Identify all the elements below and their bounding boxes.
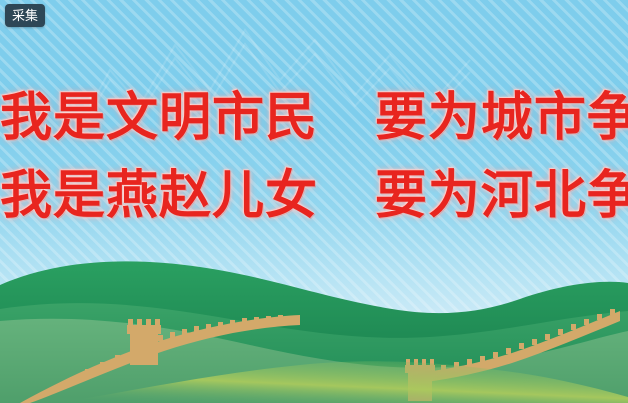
great-wall-tower-left <box>127 319 161 365</box>
slogan-line-1-left: 我是文明市民 <box>0 89 318 147</box>
landscape-illustration <box>0 213 628 403</box>
capture-button[interactable]: 采集 <box>5 4 45 27</box>
slogan-line-2-left: 我是燕赵儿女 <box>0 167 318 225</box>
poster-image: 我是文明市民 要为城市争光 我是燕赵儿女 要为河北争气 采集 <box>0 0 628 403</box>
slogan-line-1-right: 要为城市争光 <box>375 89 628 147</box>
slogan-line-1: 我是文明市民 要为城市争光 <box>0 92 628 144</box>
slogan-line-2-right: 要为河北争气 <box>375 167 628 225</box>
slogan-headline: 我是文明市民 要为城市争光 我是燕赵儿女 要为河北争气 <box>0 92 628 222</box>
slogan-line-2: 我是燕赵儿女 要为河北争气 <box>0 170 628 222</box>
